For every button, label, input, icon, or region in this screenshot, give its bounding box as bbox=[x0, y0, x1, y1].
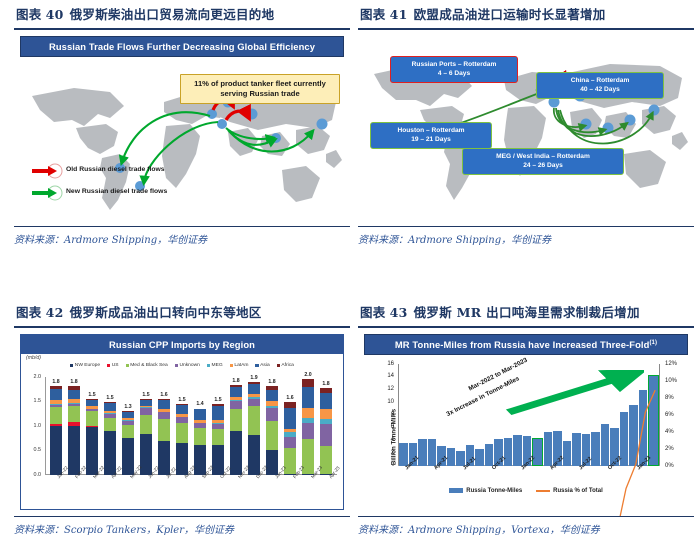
figure-41-label: 图表 bbox=[360, 7, 386, 22]
bar-segment bbox=[194, 428, 205, 445]
y-tick-right: 10% bbox=[665, 378, 677, 384]
legend-label: Africa bbox=[281, 363, 294, 368]
legend-item-percent-total: Russia % of Total bbox=[536, 488, 603, 494]
y-tick-left: 8 bbox=[391, 412, 394, 418]
y-tick-left: 6 bbox=[391, 424, 394, 430]
route-box-houston: Houston – Rotterdam 19 – 21 Days bbox=[370, 122, 492, 149]
bar-group: 1.8 bbox=[263, 377, 281, 475]
figure-42-label: 图表 bbox=[16, 305, 42, 320]
chart-42-plot: 0.00.51.01.52.0 1.81.81.51.51.31.51.61.5… bbox=[45, 377, 337, 475]
bar-stack[interactable]: 1.9 bbox=[248, 382, 259, 475]
figure-41-rule-bottom bbox=[358, 226, 694, 227]
bar-segment bbox=[212, 445, 223, 474]
legend-swatch bbox=[207, 364, 210, 367]
figure-40-number: 40 bbox=[46, 7, 64, 22]
bar-total-label: 1.6 bbox=[286, 395, 293, 401]
legend-label: NW Europe bbox=[75, 363, 100, 368]
legend-swatch bbox=[126, 364, 129, 367]
chart-43-plot: -246810121416 0%2%4%6%8%10%12% bbox=[398, 364, 660, 466]
figure-40-heading: 图表40俄罗斯柴油出口贸易流向更远目的地 bbox=[16, 4, 350, 23]
legend-item-tonne-miles: Russia Tonne-Miles bbox=[449, 488, 522, 494]
bar-segment bbox=[158, 419, 169, 441]
legend-item-unknown: Unknown bbox=[175, 363, 200, 368]
bar-segment bbox=[302, 379, 313, 387]
bar-stack[interactable]: 1.8 bbox=[50, 386, 61, 475]
route-name-houston: Houston – Rotterdam bbox=[375, 126, 487, 136]
bar-group: 1.6 bbox=[281, 377, 299, 475]
bar-segment bbox=[266, 390, 277, 401]
bar-segment bbox=[194, 445, 205, 474]
bar-segment bbox=[320, 409, 331, 418]
bar-stack[interactable]: 1.8 bbox=[320, 388, 331, 474]
growth-arrow-icon bbox=[503, 370, 644, 417]
legend-swatch-line bbox=[536, 490, 550, 492]
bar-group: 1.5 bbox=[101, 377, 119, 475]
route-name-china: China – Rotterdam bbox=[541, 76, 659, 86]
bar-total-label: 1.8 bbox=[322, 381, 329, 387]
bar-segment bbox=[50, 426, 61, 475]
bar-segment bbox=[302, 423, 313, 439]
y-tick-left: 2 bbox=[391, 450, 394, 456]
bar-segment bbox=[248, 384, 259, 394]
y-tick-right: 4% bbox=[665, 429, 674, 435]
y-tick-left: 16 bbox=[387, 361, 394, 367]
legend-item-africa: Africa bbox=[277, 363, 294, 368]
legend-label: US bbox=[112, 363, 119, 368]
y-tick-right: 8% bbox=[665, 395, 674, 401]
route-days-meg-west-india: 24 – 26 Days bbox=[467, 161, 619, 171]
legend-swatch bbox=[70, 364, 73, 367]
legend-item-us: US bbox=[107, 363, 118, 368]
figure-40-source: 资料来源：Ardmore Shipping，华创证券 bbox=[14, 231, 350, 246]
chart-42-y-axis: 0.00.51.01.52.0 bbox=[23, 377, 43, 475]
bar-segment bbox=[140, 415, 151, 435]
bar-total-label: 1.8 bbox=[268, 379, 275, 385]
legend-label: Asia bbox=[260, 363, 270, 368]
bar-segment bbox=[176, 443, 187, 475]
x-tick: May-22 bbox=[120, 475, 138, 505]
bar-segment bbox=[266, 450, 277, 474]
bar-segment bbox=[122, 425, 133, 438]
bar-segment bbox=[140, 434, 151, 474]
bar-stack[interactable]: 1.3 bbox=[122, 411, 133, 474]
bar-segment bbox=[284, 408, 295, 429]
bar-segment bbox=[68, 390, 79, 399]
bar-segment bbox=[320, 446, 331, 474]
bar-group: 1.6 bbox=[155, 377, 173, 475]
chart-43-title-superscript: (1) bbox=[649, 339, 657, 345]
route-days-china: 40 – 42 Days bbox=[541, 85, 659, 95]
legend-swatch bbox=[230, 364, 233, 367]
figure-43-heading: 图表43俄罗斯 MR 出口吨海里需求制裁后增加 bbox=[360, 302, 694, 321]
bar-segment bbox=[104, 418, 115, 431]
chart-43-legend: Russia Tonne-Miles Russia % of Total bbox=[364, 488, 688, 494]
x-tick: Jun-22 bbox=[138, 475, 156, 505]
x-tick: Jul-22 bbox=[156, 475, 174, 505]
figure-43-title: 俄罗斯 MR 出口吨海里需求制裁后增加 bbox=[414, 305, 640, 320]
bar-group: 1.8 bbox=[227, 377, 245, 475]
bar-group: 1.8 bbox=[317, 377, 335, 475]
figure-42-number: 42 bbox=[46, 305, 64, 320]
figure-panel-43: 图表43俄罗斯 MR 出口吨海里需求制裁后增加 MR Tonne-Miles f… bbox=[358, 302, 694, 536]
figure-43-source: 资料来源：Ardmore Shipping，Vortexa，华创证券 bbox=[358, 521, 694, 536]
y-tick-right: 2% bbox=[665, 446, 674, 452]
x-tick: Dec-22 bbox=[246, 475, 264, 505]
legend-label: LatAm bbox=[234, 363, 248, 368]
legend-item-meg: MEG bbox=[207, 363, 223, 368]
bar-segment bbox=[68, 426, 79, 475]
route-name-meg-west-india: MEG / West India – Rotterdam bbox=[467, 152, 619, 162]
bar-total-label: 1.9 bbox=[250, 375, 257, 381]
figure-42-body: Russian CPP Imports by Region (mb/d) NW … bbox=[14, 328, 350, 516]
figure-40-rule-bottom bbox=[14, 226, 350, 227]
slide-title-40: Russian Trade Flows Further Decreasing G… bbox=[20, 36, 344, 57]
legend-swatch bbox=[277, 364, 280, 367]
chart-43-title: MR Tonne-Miles from Russia have Increase… bbox=[364, 334, 688, 355]
bar-total-label: 1.8 bbox=[70, 379, 77, 385]
y-tick-left: 4 bbox=[391, 437, 394, 443]
figure-40-label: 图表 bbox=[16, 7, 42, 22]
figure-43-body: MR Tonne-Miles from Russia have Increase… bbox=[358, 328, 694, 516]
chart-42-bars: 1.81.81.51.51.31.51.61.51.41.51.81.91.81… bbox=[47, 377, 335, 475]
x-tick: Aug-22 bbox=[174, 475, 192, 505]
bar-segment bbox=[122, 438, 133, 475]
bar-total-label: 1.4 bbox=[196, 401, 203, 407]
x-tick: Apr-23 bbox=[319, 475, 337, 505]
bar-group: 1.5 bbox=[137, 377, 155, 475]
bar-total-label: 1.8 bbox=[232, 378, 239, 384]
x-tick: Feb-22 bbox=[65, 475, 83, 505]
bar-total-label: 1.3 bbox=[124, 404, 131, 410]
legend-arrow-icons-40 bbox=[30, 162, 64, 210]
x-tick: Sep-22 bbox=[192, 475, 210, 505]
bar-segment bbox=[230, 387, 241, 397]
bar-group: 1.8 bbox=[47, 377, 65, 475]
figure-41-source: 资料来源：Ardmore Shipping，华创证券 bbox=[358, 231, 694, 246]
bar-stack[interactable]: 2.0 bbox=[302, 379, 313, 475]
bar-segment bbox=[104, 431, 115, 474]
y-tick-left: 10 bbox=[387, 399, 394, 405]
y-tick-right: 12% bbox=[665, 361, 677, 367]
bar-segment bbox=[212, 406, 223, 421]
y-tick: 2.0 bbox=[34, 374, 42, 380]
bar-stack[interactable]: 1.5 bbox=[86, 399, 97, 475]
bar-group: 1.8 bbox=[65, 377, 83, 475]
bar-segment bbox=[50, 389, 61, 400]
y-tick-right: 6% bbox=[665, 412, 674, 418]
bar-stack[interactable]: 1.5 bbox=[176, 404, 187, 475]
bar-total-label: 1.5 bbox=[214, 397, 221, 403]
bar-segment bbox=[158, 400, 169, 409]
bar-stack[interactable]: 1.8 bbox=[68, 386, 79, 474]
bar-group: 1.5 bbox=[173, 377, 191, 475]
bar-stack[interactable]: 1.5 bbox=[212, 404, 223, 475]
bar-stack[interactable]: 1.8 bbox=[230, 385, 241, 474]
bar-total-label: 1.8 bbox=[52, 379, 59, 385]
bar-segment bbox=[320, 393, 331, 409]
bar-segment bbox=[230, 409, 241, 431]
report-page: 图表40俄罗斯柴油出口贸易流向更远目的地 Russian Trade Flows… bbox=[0, 0, 700, 558]
figure-40-title: 俄罗斯柴油出口贸易流向更远目的地 bbox=[70, 7, 275, 22]
route-name-russian-ports: Russian Ports – Rotterdam bbox=[395, 60, 513, 70]
legend-label: MEG bbox=[212, 363, 223, 368]
bar-stack[interactable]: 1.5 bbox=[140, 399, 151, 474]
bar-stack[interactable]: 1.6 bbox=[158, 399, 169, 475]
figure-43-number: 43 bbox=[390, 305, 408, 320]
bar-stack[interactable]: 1.8 bbox=[266, 386, 277, 475]
bar-segment bbox=[194, 409, 205, 420]
y-tick-left: 12 bbox=[387, 386, 394, 392]
figure-panel-42: 图表42俄罗斯成品油出口转向中东等地区 Russian CPP Imports … bbox=[14, 302, 350, 536]
bar-total-label: 1.5 bbox=[142, 392, 149, 398]
bar-group: 2.0 bbox=[299, 377, 317, 475]
figure-42-rule-bottom bbox=[14, 516, 350, 517]
legend-item-latam: LatAm bbox=[230, 363, 249, 368]
y-tick-right: 0% bbox=[665, 463, 674, 469]
y-tick: 1.0 bbox=[34, 423, 42, 429]
bar-total-label: 1.5 bbox=[88, 392, 95, 398]
bar-total-label: 1.5 bbox=[106, 395, 113, 401]
bar-total-label: 1.6 bbox=[160, 392, 167, 398]
route-box-russian-ports: Russian Ports – Rotterdam 4 – 6 Days bbox=[390, 56, 518, 83]
bar-segment bbox=[284, 448, 295, 473]
bar-stack[interactable]: 1.6 bbox=[284, 402, 295, 475]
world-map-40: 11% of product tanker fleet currently se… bbox=[14, 58, 350, 226]
bar-segment bbox=[50, 407, 61, 424]
bar-total-label: 1.5 bbox=[178, 397, 185, 403]
bar-segment bbox=[302, 408, 313, 418]
figure-panel-40: 图表40俄罗斯柴油出口贸易流向更远目的地 Russian Trade Flows… bbox=[14, 4, 350, 246]
y-tick-left: - bbox=[392, 463, 394, 469]
x-tick: Mar-22 bbox=[83, 475, 101, 505]
bar-segment bbox=[68, 406, 79, 422]
legend-new-flows-label: New Russian diesel trade flows bbox=[66, 188, 167, 197]
bar-group: 1.3 bbox=[119, 377, 137, 475]
bar-segment bbox=[284, 437, 295, 448]
figure-41-title: 欧盟成品油进口运输时长显著增加 bbox=[414, 7, 606, 22]
x-tick: Nov-22 bbox=[228, 475, 246, 505]
bar-group: 1.5 bbox=[209, 377, 227, 475]
bar-segment bbox=[248, 406, 259, 435]
x-tick: Mar-23 bbox=[301, 475, 319, 505]
legend-label-tonne-miles: Russia Tonne-Miles bbox=[466, 488, 522, 494]
chart-42-x-axis: Jan-22Feb-22Mar-22Apr-22May-22Jun-22Jul-… bbox=[47, 475, 337, 505]
y-tick: 0.0 bbox=[34, 472, 42, 478]
x-tick: Feb-23 bbox=[283, 475, 301, 505]
legend-swatch bbox=[107, 364, 110, 367]
bar-group: 1.9 bbox=[245, 377, 263, 475]
legend-label: Unknown bbox=[179, 363, 199, 368]
legend-label-percent-total: Russia % of Total bbox=[553, 488, 603, 494]
legend-old-flows-label: Old Russian diesel trade flows bbox=[66, 166, 165, 175]
bar-group: 1.5 bbox=[83, 377, 101, 475]
figure-43-rule-bottom bbox=[358, 516, 694, 517]
bar-segment bbox=[176, 405, 187, 414]
chart-42-frame: Russian CPP Imports by Region (mb/d) NW … bbox=[20, 334, 344, 510]
legend-swatch-bar bbox=[449, 488, 463, 493]
world-map-41: Russian Ports – Rotterdam 4 – 6 Days Chi… bbox=[358, 30, 694, 226]
bar-segment bbox=[86, 427, 97, 475]
bar-segment bbox=[176, 423, 187, 443]
bar-segment bbox=[212, 429, 223, 445]
figure-43-label: 图表 bbox=[360, 305, 386, 320]
bar-segment bbox=[140, 408, 151, 415]
route-box-meg-west-india: MEG / West India – Rotterdam 24 – 26 Day… bbox=[462, 148, 624, 175]
figure-42-title: 俄罗斯成品油出口转向中东等地区 bbox=[70, 305, 262, 320]
chart-43-area: Billion Tonne-Miles -246810121416 0%2%4%… bbox=[364, 358, 688, 510]
figure-41-heading: 图表41欧盟成品油进口运输时长显著增加 bbox=[360, 4, 694, 23]
chart-43-y-axis-right: 0%2%4%6%8%10%12% bbox=[662, 364, 686, 466]
figure-42-source: 资料来源：Scorpio Tankers，Kpler，华创证券 bbox=[14, 521, 350, 536]
chart-42-unit-label: (mb/d) bbox=[26, 355, 41, 361]
figure-panel-41: 图表41欧盟成品油进口运输时长显著增加 bbox=[358, 4, 694, 246]
legend-item-asia: Asia bbox=[255, 363, 269, 368]
figure-40-body: Russian Trade Flows Further Decreasing G… bbox=[14, 30, 350, 226]
bar-segment bbox=[248, 399, 259, 406]
bar-segment bbox=[248, 435, 259, 474]
route-days-houston: 19 – 21 Days bbox=[375, 135, 487, 145]
legend-item-nw-europe: NW Europe bbox=[70, 363, 100, 368]
bar-total-label: 2.0 bbox=[304, 372, 311, 378]
callout-fleet-share: 11% of product tanker fleet currently se… bbox=[180, 74, 340, 105]
figure-41-number: 41 bbox=[390, 7, 408, 22]
legend-item-med-black-sea: Med & Black Sea bbox=[126, 363, 168, 368]
x-tick: Jan-22 bbox=[47, 475, 65, 505]
y-tick-left: 14 bbox=[387, 373, 394, 379]
bar-segment bbox=[320, 424, 331, 446]
bar-segment bbox=[86, 411, 97, 426]
bar-segment bbox=[266, 421, 277, 450]
legend-label: Med & Black Sea bbox=[130, 363, 168, 368]
chart-43-y-axis-left: -246810121416 bbox=[376, 364, 396, 466]
chart-43-title-text: MR Tonne-Miles from Russia have Increase… bbox=[395, 339, 650, 350]
bar-segment bbox=[104, 403, 115, 411]
bar-segment bbox=[158, 441, 169, 474]
route-box-china: China – Rotterdam 40 – 42 Days bbox=[536, 72, 664, 99]
figure-41-body: Russian Ports – Rotterdam 4 – 6 Days Chi… bbox=[358, 30, 694, 226]
bar-stack[interactable]: 1.4 bbox=[194, 408, 205, 474]
chart-42-axis-line bbox=[45, 377, 46, 475]
x-tick: Jan-23 bbox=[265, 475, 283, 505]
x-tick: Oct-22 bbox=[210, 475, 228, 505]
bar-segment bbox=[302, 387, 313, 409]
figure-42-heading: 图表42俄罗斯成品油出口转向中东等地区 bbox=[16, 302, 350, 321]
bar-stack[interactable]: 1.5 bbox=[104, 402, 115, 475]
y-tick: 1.5 bbox=[34, 398, 42, 404]
bar-segment bbox=[158, 412, 169, 419]
bar-segment bbox=[230, 401, 241, 409]
chart-42-legend: NW EuropeUSMed & Black SeaUnknownMEGLatA… bbox=[21, 363, 343, 368]
bar-segment bbox=[266, 408, 277, 421]
legend-swatch bbox=[255, 364, 258, 367]
route-days-russian-ports: 4 – 6 Days bbox=[395, 69, 513, 79]
x-tick: Apr-22 bbox=[101, 475, 119, 505]
legend-swatch bbox=[175, 364, 178, 367]
y-tick: 0.5 bbox=[34, 447, 42, 453]
bar-group: 1.4 bbox=[191, 377, 209, 475]
